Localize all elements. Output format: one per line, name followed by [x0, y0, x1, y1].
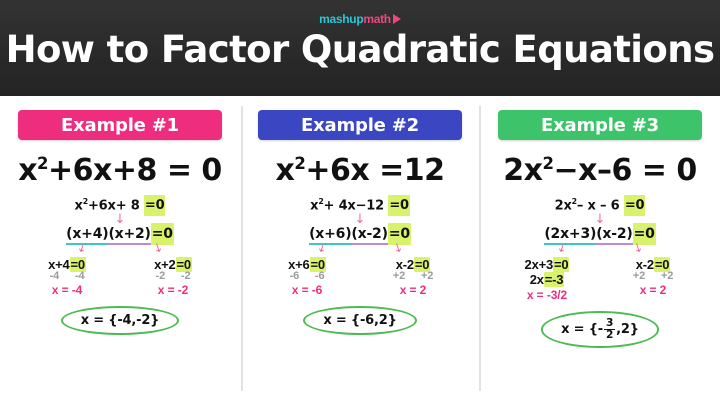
std-rest: – x – 6 [577, 198, 624, 213]
example-1-main-equation: x2+6x+8 = 0 [18, 153, 222, 188]
std-rest: + 4x−12 [324, 198, 389, 213]
main-eq-exponent: 2 [294, 154, 305, 173]
sub-answer: x = -2 [158, 283, 188, 297]
example-3-final: x = {-32,2} [486, 311, 714, 347]
main-eq-exponent: 2 [37, 154, 48, 173]
sub-eq-lhs: 2x+3 [525, 257, 553, 272]
example-1-header-pill: Example #1 [18, 110, 222, 140]
example-2-factored-form: (x+6)(x-2)=0 [309, 226, 411, 242]
main-eq-exponent: 2 [542, 154, 553, 173]
example-1-final: x = {-4,-2} [6, 306, 234, 335]
annot-right: -2 [181, 270, 190, 282]
std-rest: +6x+ 8 [88, 198, 144, 213]
sub-solution: 2x+3=0 2x=-3 x = -3/2 [504, 257, 590, 302]
sub-annotation: -2-2 [156, 270, 191, 282]
sub-solution: x+4=0 -4-4 x = -4 [24, 257, 110, 297]
example-2-sub-solutions: x+6=0 -6-6 x = -6 x-2=0 +2+2 x = 2 [246, 257, 474, 297]
logo-text-mashup: mashup [319, 12, 363, 26]
sub-solution: x-2=0 +2+2 x = 2 [610, 257, 696, 302]
factor-2: (x+2) [108, 226, 150, 245]
annot-left: -6 [290, 270, 299, 282]
sub-answer: x = -3/2 [527, 288, 567, 302]
factor-2: (x-2) [351, 226, 387, 245]
arrow-down-left-icon: ↓ [556, 242, 569, 255]
main-eq-lhs: x [18, 153, 37, 188]
highlight-equals-zero: =0 [633, 226, 656, 242]
example-column-1: Example #1 x2+6x+8 = 0 x2+6x+ 8 =0 ↓ (x+… [0, 96, 240, 404]
annot-right: -6 [315, 270, 324, 282]
arrow-down-right-icon: ↓ [392, 242, 405, 255]
final-answer-oval: x = {-4,-2} [61, 306, 179, 335]
final-answer-text: x = {-4,-2} [81, 313, 159, 328]
sub-eq2-lhs: 2x [530, 272, 544, 287]
final-answer-oval: x = {-6,2} [303, 306, 416, 335]
example-1-arrow-down-icon: ↓ [115, 215, 126, 225]
sub-eq2-rhs: =-3 [544, 272, 565, 287]
arrow-down-left-icon: ↓ [76, 242, 89, 255]
factor-1: (2x+3) [544, 226, 596, 245]
example-2-main-equation: x2+6x =12 [275, 153, 444, 188]
annot-left: +2 [633, 270, 645, 282]
sub-solution: x+6=0 -6-6 x = -6 [264, 257, 350, 297]
main-eq-rest: +6x+8 = 0 [48, 153, 222, 188]
play-triangle-icon [393, 14, 401, 24]
highlight-equals-zero: =0 [624, 198, 646, 213]
brand-logo: mashupmath [0, 13, 720, 25]
annot-left: -2 [156, 270, 165, 282]
example-3-standard-form: 2x2– x – 6 =0 [555, 197, 646, 213]
sub-solution: x+2=0 -2-2 x = -2 [130, 257, 216, 297]
example-2-work: x2+ 4x−12 =0 ↓ (x+6)(x-2)=0 ↓ ↓ x+6=0 -6… [246, 197, 474, 335]
final-answer-suffix: ,2} [616, 322, 639, 337]
fraction-denominator: 2 [604, 330, 615, 341]
example-column-2: Example #2 x2+6x =12 x2+ 4x−12 =0 ↓ (x+6… [240, 96, 480, 404]
sub-answer: x = 2 [640, 283, 667, 297]
final-answer-oval: x = {-32,2} [541, 311, 659, 347]
sub-equation: 2x+3=0 [525, 257, 570, 272]
highlight-equals-zero: =0 [151, 226, 174, 242]
infographic-page: mashupmath How to Factor Quadratic Equat… [0, 0, 720, 404]
main-eq-lhs: 2x [503, 153, 542, 188]
example-1-work: x2+6x+ 8 =0 ↓ (x+4)(x+2)=0 ↓ ↓ x+4=0 -4-… [6, 197, 234, 335]
arrow-down-right-icon: ↓ [152, 242, 165, 255]
page-title: How to Factor Quadratic Equations [0, 28, 720, 71]
annot-left: +2 [393, 270, 405, 282]
sub-solution: x-2=0 +2+2 x = 2 [370, 257, 456, 297]
sub-answer: x = -6 [292, 283, 322, 297]
std-lhs: 2x [555, 198, 572, 213]
sub-annotation: +2+2 [393, 270, 433, 282]
factor-1: (x+6) [309, 226, 351, 245]
final-answer-fraction: 32 [604, 318, 615, 340]
example-2-header-pill: Example #2 [258, 110, 462, 140]
sub-answer: x = 2 [400, 283, 427, 297]
example-1-standard-form: x2+6x+ 8 =0 [75, 197, 166, 213]
example-3-main-equation: 2x2−x–6 = 0 [503, 153, 696, 188]
highlight-equals-zero: =0 [388, 198, 410, 213]
main-eq-rest: +6x =12 [305, 153, 444, 188]
final-answer-text: x = {-6,2} [323, 313, 396, 328]
examples-container: Example #1 x2+6x+8 = 0 x2+6x+ 8 =0 ↓ (x+… [0, 96, 720, 404]
header-band: mashupmath How to Factor Quadratic Equat… [0, 0, 720, 96]
example-3-sub-solutions: 2x+3=0 2x=-3 x = -3/2 x-2=0 +2+2 x = 2 [486, 257, 714, 302]
std-lhs: x [75, 198, 83, 213]
factor-2: (x-2) [596, 226, 632, 245]
arrow-down-left-icon: ↓ [316, 242, 329, 255]
sub-annotation: -4-4 [50, 270, 85, 282]
sub-eq-rhs: =0 [553, 257, 569, 272]
sub-annotation: -6-6 [290, 270, 325, 282]
logo-text-math: math [363, 12, 390, 26]
main-eq-lhs: x [275, 153, 294, 188]
example-column-3: Example #3 2x2−x–6 = 0 2x2– x – 6 =0 ↓ (… [480, 96, 720, 404]
example-3-work: 2x2– x – 6 =0 ↓ (2x+3)(x-2)=0 ↓ ↓ 2x+3=0… [486, 197, 714, 348]
sub-annotation: +2+2 [633, 270, 673, 282]
annot-right: -4 [75, 270, 84, 282]
sub-equation-second-step: 2x=-3 [530, 272, 565, 287]
highlight-equals-zero: =0 [144, 198, 166, 213]
annot-right: +2 [661, 270, 673, 282]
example-2-arrow-down-icon: ↓ [355, 215, 366, 225]
arrow-down-right-icon: ↓ [632, 242, 645, 255]
example-3-header-pill: Example #3 [498, 110, 702, 140]
sub-answer: x = -4 [52, 283, 82, 297]
example-1-sub-solutions: x+4=0 -4-4 x = -4 x+2=0 -2-2 x = -2 [6, 257, 234, 297]
main-eq-rest: −x–6 = 0 [553, 153, 696, 188]
final-answer-prefix: x = {- [561, 322, 603, 337]
example-2-final: x = {-6,2} [246, 306, 474, 335]
example-3-arrow-down-icon: ↓ [595, 215, 606, 225]
annot-right: +2 [421, 270, 433, 282]
annot-left: -4 [50, 270, 59, 282]
example-2-standard-form: x2+ 4x−12 =0 [310, 197, 410, 213]
